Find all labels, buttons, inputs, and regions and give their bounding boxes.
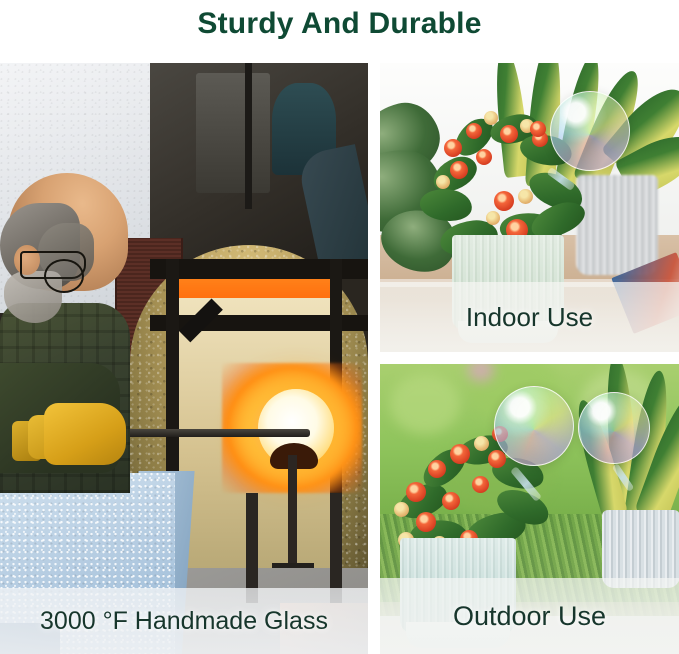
panel-handmade-glass: 3000 °F Handmade Glass	[0, 63, 368, 654]
kalanchoe-flower	[416, 512, 436, 532]
background-plant-pot	[576, 175, 658, 275]
kalanchoe-flower	[476, 149, 492, 165]
caption-outdoor-use: Outdoor Use	[380, 578, 679, 654]
kalanchoe-bud	[518, 189, 533, 204]
caption-outdoor-use-label: Outdoor Use	[453, 601, 606, 632]
glass-watering-globe	[550, 91, 630, 171]
kalanchoe-flower	[494, 191, 514, 211]
kalanchoe-bud	[484, 111, 498, 125]
kalanchoe-flower	[472, 476, 489, 493]
panel-indoor-use: Indoor Use	[380, 63, 679, 352]
furnace-tool-stand	[288, 455, 297, 571]
kalanchoe-bud	[486, 211, 500, 225]
furnace-leg-right	[330, 493, 342, 603]
furnace-leg-left	[246, 493, 258, 603]
background-plant-pot	[602, 510, 679, 588]
yellow-work-glove	[44, 403, 126, 465]
caption-handmade-glass: 3000 °F Handmade Glass	[0, 588, 368, 654]
glassblower-eyeglass-lens	[44, 259, 84, 293]
glass-watering-globe	[578, 392, 650, 464]
kalanchoe-flower	[466, 123, 482, 139]
glass-watering-globe	[494, 386, 574, 466]
kalanchoe-flower	[406, 482, 426, 502]
kalanchoe-bud	[436, 175, 450, 189]
glassblowing-scene	[0, 63, 368, 654]
caption-handmade-glass-label: 3000 °F Handmade Glass	[40, 607, 328, 636]
page-title: Sturdy And Durable	[0, 2, 679, 46]
kalanchoe-flower	[530, 121, 546, 137]
panel-outdoor-use: Outdoor Use	[380, 364, 679, 654]
kalanchoe-flower	[450, 444, 470, 464]
workshop-vertical-pipe	[245, 63, 252, 209]
kalanchoe-bud	[394, 502, 409, 517]
kalanchoe-bud	[474, 436, 489, 451]
kalanchoe-flower	[450, 161, 468, 179]
product-feature-image: Sturdy And Durable	[0, 0, 679, 654]
kalanchoe-flower	[442, 492, 460, 510]
workshop-machine	[196, 73, 270, 193]
caption-indoor-use-label: Indoor Use	[466, 302, 593, 333]
kalanchoe-flower	[500, 125, 518, 143]
caption-indoor-use: Indoor Use	[380, 282, 679, 352]
kalanchoe-flower	[428, 460, 446, 478]
kalanchoe-flower	[444, 139, 462, 157]
